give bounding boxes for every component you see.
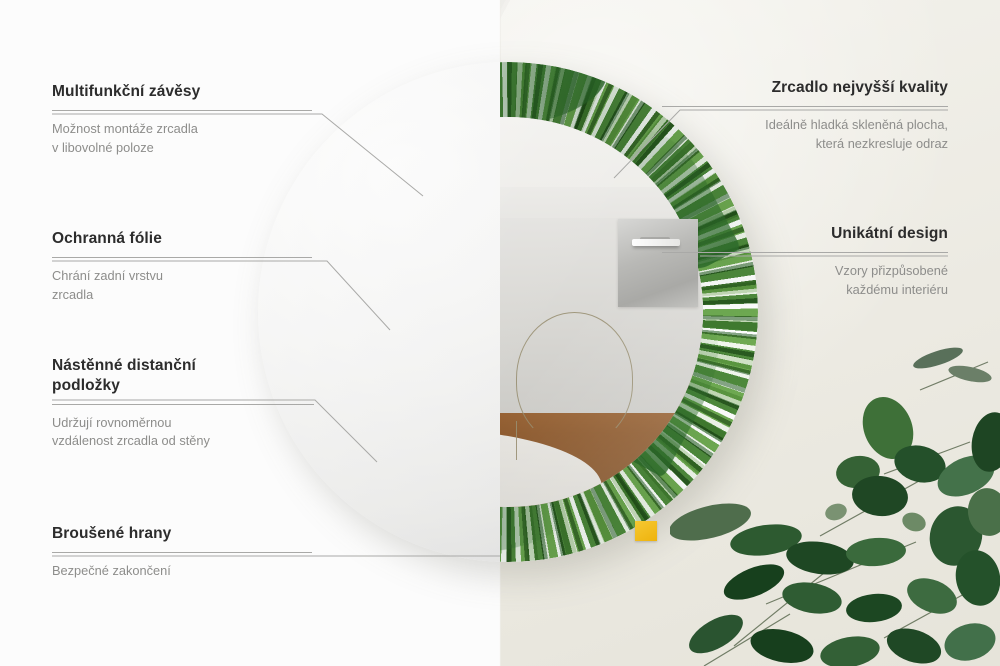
- callout-title: Multifunkční závěsy: [52, 82, 312, 102]
- callout-title: Unikátní design: [662, 224, 948, 244]
- callout-zrcadlo-nejvyssi-kvality: Zrcadlo nejvyšší kvality Ideálně hladká …: [662, 78, 948, 153]
- callout-description: Udržují rovnoměrnou vzdálenost zrcadla o…: [52, 414, 314, 451]
- callout-rule: [52, 110, 312, 111]
- callout-rule: [52, 552, 312, 553]
- infographic-canvas: Multifunkční závěsy Možnost montáže zrca…: [0, 0, 1000, 666]
- callout-description: Chrání zadní vrstvu zrcadla: [52, 267, 312, 304]
- decorative-plant-photo: [670, 346, 1000, 666]
- callout-description: Možnost montáže zrcadla v libovolné polo…: [52, 120, 312, 157]
- yellow-distance-washer: [635, 521, 657, 541]
- callout-ochranna-folie: Ochranná fólie Chrání zadní vrstvu zrcad…: [52, 229, 312, 304]
- callout-description: Ideálně hladká skleněná plocha, která ne…: [662, 116, 948, 153]
- callout-title: Ochranná fólie: [52, 229, 312, 249]
- reflected-lamp: [516, 312, 633, 445]
- callout-title: Zrcadlo nejvyšší kvality: [662, 78, 948, 98]
- callout-description: Bezpečné zakončení: [52, 562, 312, 581]
- callout-description: Vzory přizpůsobené každému interiéru: [662, 262, 948, 299]
- callout-multifunkcni-zavesy: Multifunkční závěsy Možnost montáže zrca…: [52, 82, 312, 157]
- callout-title: Broušené hrany: [52, 524, 312, 544]
- callout-rule: [662, 106, 948, 107]
- callout-rule: [52, 404, 314, 405]
- callout-brousene-hrany: Broušené hrany Bezpečné zakončení: [52, 524, 312, 581]
- callout-title: Nástěnné distanční podložky: [52, 356, 314, 396]
- callout-rule: [662, 252, 948, 253]
- callout-unikatni-design: Unikátní design Vzory přizpůsobené každé…: [662, 224, 948, 299]
- callout-rule: [52, 257, 312, 258]
- callout-nastenne-distancni-podlozky: Nástěnné distanční podložky Udržují rovn…: [52, 356, 314, 451]
